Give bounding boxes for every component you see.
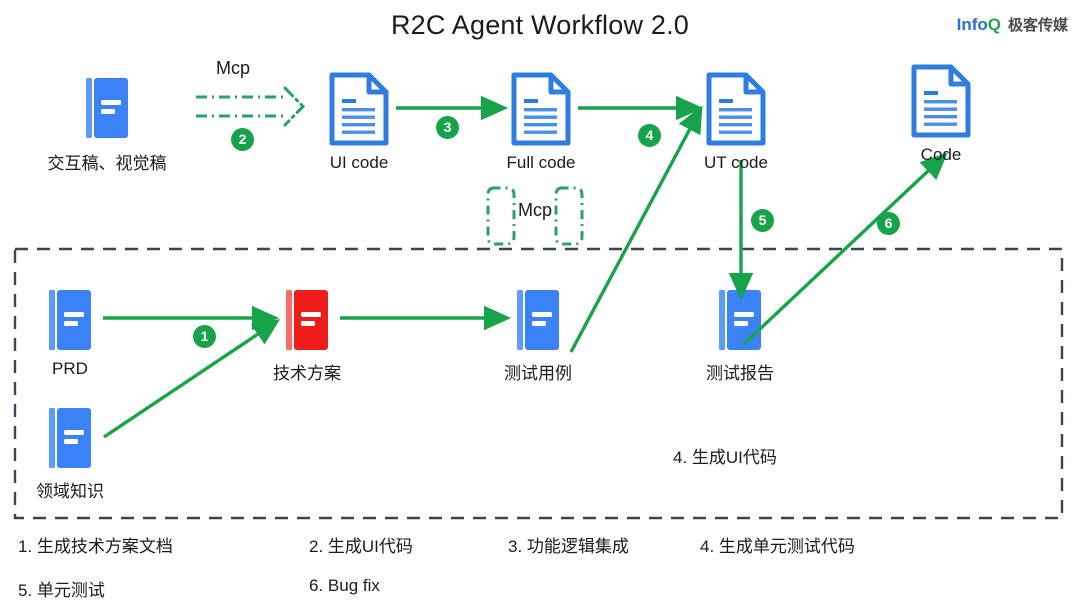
node-tech-plan: 技术方案 [237, 354, 377, 384]
step-badge-4: 4 [638, 124, 661, 147]
icon-prd [49, 290, 91, 350]
legend-item-2: 2. 生成UI代码 [309, 532, 413, 557]
legend-item-4: 4. 生成单元测试代码 [700, 532, 855, 557]
node-full-code-label: Full code [471, 153, 611, 173]
icon-ui-code [332, 75, 386, 143]
icon-test-case [517, 290, 559, 350]
legend-item-6: 6. Bug fix [309, 576, 380, 596]
node-ut-code: UT code [666, 148, 806, 173]
arrow-mcp-design-to-ui [196, 88, 303, 125]
node-domain-knowledge-label: 领域知识 [0, 477, 140, 502]
icon-test-report [719, 290, 761, 350]
node-design-doc: 交互稿、视觉稿 [20, 144, 194, 174]
node-test-case: 测试用例 [468, 354, 608, 384]
node-ui-code: UI code [289, 148, 429, 173]
icon-design-doc [86, 78, 128, 138]
step-badge-6: 6 [877, 212, 900, 235]
icon-domain-knowledge [49, 408, 91, 468]
step-badge-1: 1 [193, 325, 216, 348]
node-prd: PRD [0, 354, 140, 379]
node-ui-code-label: UI code [289, 153, 429, 173]
node-tech-plan-label: 技术方案 [237, 359, 377, 384]
node-domain-knowledge: 领域知识 [0, 472, 140, 502]
legend-item-5: 5. 单元测试 [18, 576, 105, 601]
icon-code [914, 67, 968, 135]
node-test-report: 测试报告 [670, 354, 810, 384]
legend-item-3: 3. 功能逻辑集成 [508, 532, 629, 557]
step-badge-2: 2 [231, 128, 254, 151]
arrow-testcase-to-ut [571, 110, 700, 352]
step-badge-5: 5 [751, 209, 774, 232]
node-test-case-label: 测试用例 [468, 359, 608, 384]
icon-full-code [514, 75, 568, 143]
mcp-dashed-doc-left [488, 188, 514, 244]
scope-box-note: 4. 生成UI代码 [673, 443, 777, 468]
node-code: Code [871, 140, 1011, 165]
node-ut-code-label: UT code [666, 153, 806, 173]
mcp-label-top: Mcp [216, 58, 250, 79]
node-code-label: Code [871, 145, 1011, 165]
step-badge-3: 3 [436, 116, 459, 139]
node-test-report-label: 测试报告 [670, 359, 810, 384]
connector-layer [0, 0, 1080, 609]
mcp-dashed-doc-right [556, 188, 582, 244]
icon-ut-code [709, 75, 763, 143]
node-prd-label: PRD [0, 359, 140, 379]
node-design-doc-label: 交互稿、视觉稿 [20, 149, 194, 174]
diagram-canvas: R2C Agent Workflow 2.0 InfoQ 极客传媒 [0, 0, 1080, 609]
node-full-code: Full code [471, 148, 611, 173]
icon-tech-plan [286, 290, 328, 350]
mcp-label-middle: Mcp [518, 200, 552, 221]
legend-item-1: 1. 生成技术方案文档 [18, 532, 173, 557]
